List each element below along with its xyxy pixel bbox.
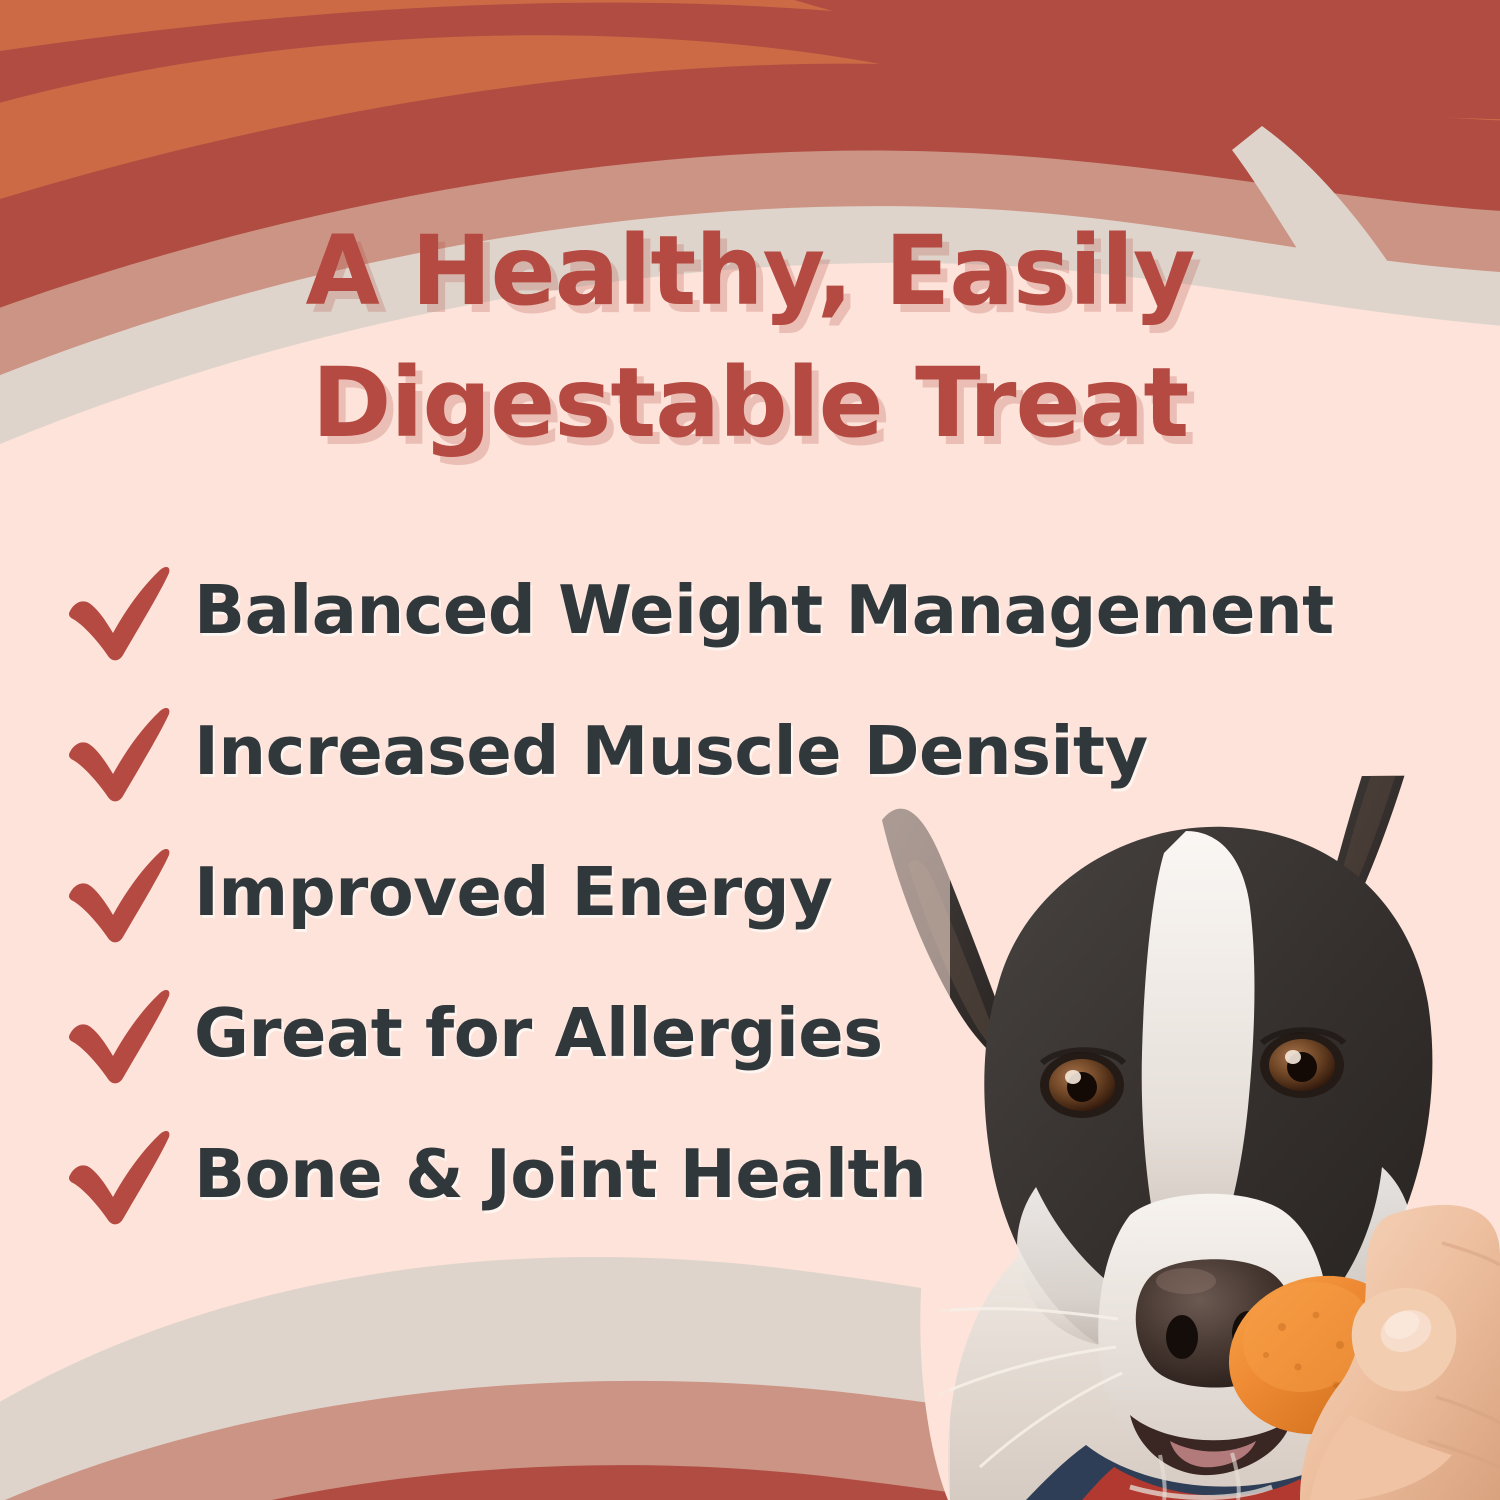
checkmark-icon — [64, 700, 182, 804]
title-line-2: Digestable Treat — [0, 337, 1500, 469]
page-title: A Healthy, Easily Digestable Treat — [0, 205, 1500, 469]
benefit-label: Increased Muscle Density — [194, 718, 1148, 785]
benefit-label: Balanced Weight Management — [194, 577, 1334, 644]
benefit-item-increased-muscle-density: Increased Muscle Density — [64, 681, 1384, 822]
benefit-label: Improved Energy — [194, 859, 832, 926]
dog-nose-highlight — [1156, 1268, 1216, 1294]
title-line-1: A Healthy, Easily — [0, 205, 1500, 337]
checkmark-icon — [64, 1123, 182, 1227]
checkmark-icon — [64, 559, 182, 663]
benefits-list: Balanced Weight Management Increased Mus… — [64, 540, 1384, 1245]
product-benefits-infographic: A Healthy, Easily Digestable Treat Balan… — [0, 0, 1500, 1500]
benefit-item-bone-and-joint-health: Bone & Joint Health — [64, 1104, 1384, 1245]
benefit-label: Bone & Joint Health — [194, 1141, 926, 1208]
benefit-item-great-for-allergies: Great for Allergies — [64, 963, 1384, 1104]
dog-nostril-left — [1166, 1315, 1198, 1359]
checkmark-icon — [64, 841, 182, 945]
benefit-item-improved-energy: Improved Energy — [64, 822, 1384, 963]
benefit-label: Great for Allergies — [194, 1000, 883, 1067]
benefit-item-balanced-weight-management: Balanced Weight Management — [64, 540, 1384, 681]
checkmark-icon — [64, 982, 182, 1086]
